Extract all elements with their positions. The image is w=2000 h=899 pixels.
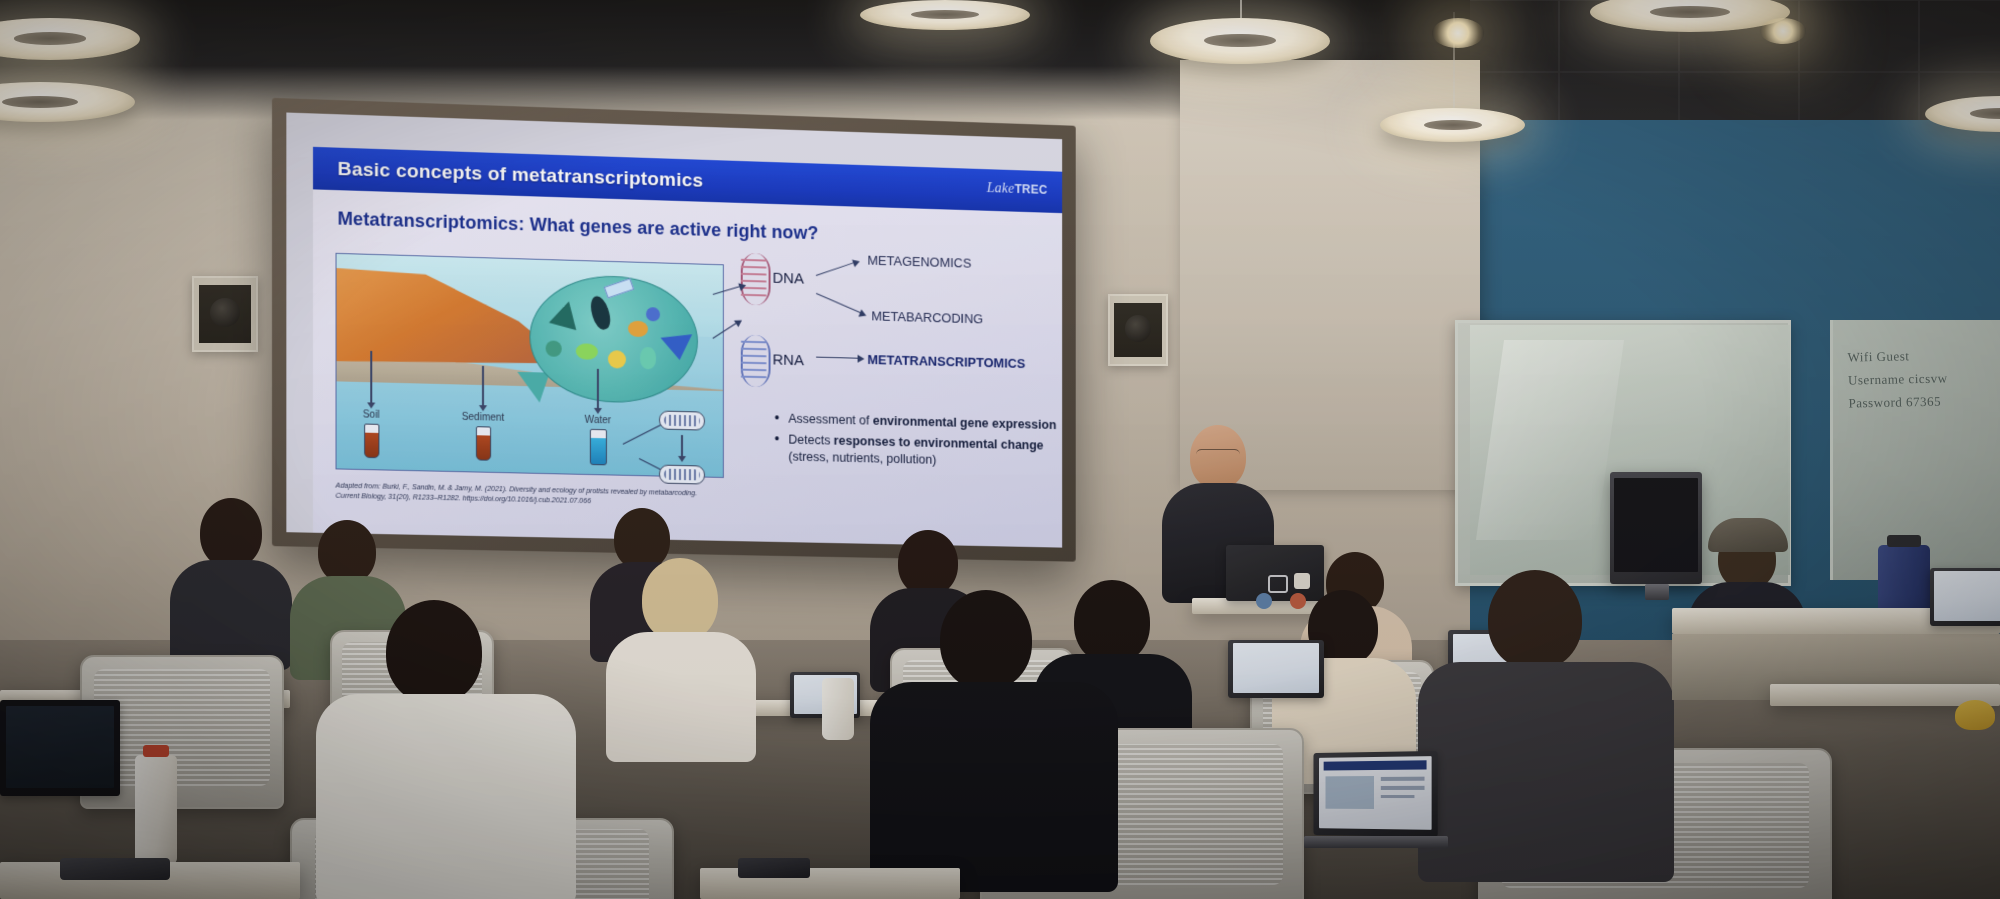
cap-icon [1708, 518, 1788, 552]
spot-light-2 [1760, 18, 1806, 44]
bullet-item-2: Detects responses to environmental chang… [775, 431, 1063, 471]
student-head [200, 498, 262, 568]
bullet-2-bold: responses to environmental change [834, 434, 1044, 453]
sample-sediment-label: Sediment [452, 411, 515, 424]
rna-label: RNA [773, 351, 804, 369]
laptop-sticker-square [1268, 575, 1288, 593]
laptop-sticker-beige [1294, 573, 1310, 589]
pendant-light-5 [1380, 108, 1525, 142]
laptop-sticker-red [1290, 593, 1306, 609]
spot-light-1 [1432, 18, 1484, 48]
student-head [386, 600, 482, 704]
student-head [898, 530, 958, 596]
sequencing-chip-top [659, 411, 705, 431]
arrow-rna-metatranscriptomics [816, 357, 859, 360]
slide-citation: Adapted from: Burki, F., Sandin, M. & Ja… [336, 482, 719, 509]
arrow-chip-down [681, 435, 682, 457]
bullet-2-prefix: Detects [788, 433, 833, 448]
monitor-stand [1645, 584, 1669, 600]
laptop-sticker-round [1256, 593, 1272, 609]
rna-helix-icon [741, 335, 767, 388]
sample-sediment: Sediment [452, 411, 515, 461]
student-head [1074, 580, 1150, 664]
method-metagenomics: METAGENOMICS [867, 253, 971, 271]
method-metabarcoding: METABARCODING [871, 308, 983, 326]
ptz-camera-left [192, 276, 258, 352]
student-torso-black-shirt [870, 682, 1118, 892]
student-torso [170, 560, 292, 670]
student-hair-braid [642, 558, 718, 642]
arrow-water [597, 369, 599, 409]
dna-label: DNA [773, 270, 804, 288]
sample-water: Water [573, 414, 623, 465]
lake-trec-logo: LakeTREC [987, 181, 1048, 199]
tumbler-cup [822, 678, 854, 740]
dna-helix-icon [741, 253, 767, 306]
ptz-camera-right [1108, 294, 1168, 366]
arrow-soil [370, 351, 372, 404]
sample-soil: Soil [348, 409, 395, 459]
arrow-dna-metagenomics [816, 262, 855, 276]
whiteboard-line-username: Username cicsvw [1848, 365, 1998, 391]
student-torso [606, 632, 756, 762]
student-torso-white-shirt [316, 694, 576, 899]
bullet-item-1: Assessment of environmental gene express… [775, 410, 1063, 434]
sample-water-label: Water [573, 414, 623, 426]
logo-trec-text: TREC [1015, 182, 1048, 197]
water-bottle-icon [589, 429, 606, 465]
arrow-sediment [482, 366, 484, 406]
microbe-yellow [608, 350, 626, 369]
projection-screen: Basic concepts of metatranscriptomics La… [286, 112, 1062, 547]
microbe-blue-dot [646, 307, 660, 321]
whiteboard-notes: Wifi Guest Username cicsvw Password 6736… [1847, 342, 1998, 414]
arrow-dna-metabarcoding [816, 293, 862, 314]
student-head [1488, 570, 1582, 670]
method-metatranscriptomics: METATRANSCRIPTOMICS [867, 352, 1025, 371]
slide-subtitle: Metatranscriptomics: What genes are acti… [338, 208, 819, 244]
microbe-green [576, 343, 598, 360]
logo-script-text: Lake [987, 181, 1015, 197]
slide-bullet-list: Assessment of environmental gene express… [735, 409, 1062, 476]
phone-on-desk [60, 858, 170, 880]
sequencing-chip-bottom [659, 465, 705, 485]
microbe-triangle-2 [661, 334, 696, 361]
whiteboard-line-password: Password 67365 [1848, 388, 1998, 414]
microbe-small-green [546, 340, 562, 356]
soil-tube-icon [364, 424, 379, 459]
sediment-tube-icon [475, 426, 490, 461]
glasses-icon [1196, 449, 1240, 460]
bullet-2-suffix: (stress, nutrients, pollution) [788, 449, 936, 466]
student-torso-grey-shirt [1418, 662, 1674, 882]
projection-screen-frame: Basic concepts of metatranscriptomics La… [272, 98, 1076, 562]
desktop-monitor [1610, 472, 1702, 584]
sample-soil-label: Soil [348, 409, 395, 421]
phone-on-desk-2 [738, 858, 810, 878]
whiteboard-line-wifi: Wifi Guest [1847, 342, 1997, 368]
bullet-1-bold: environmental gene expression [873, 413, 1057, 431]
yellow-object [1955, 700, 1995, 730]
magnifier-tail [517, 372, 549, 403]
classroom-photo: Wifi Guest Username cicsvw Password 6736… [0, 0, 2000, 899]
pendant-light-7 [860, 0, 1030, 30]
pendant-light-1 [0, 18, 140, 60]
pendant-light-3 [1150, 18, 1330, 64]
microbe-teal [640, 347, 656, 369]
pendant-light-6 [1925, 96, 2000, 132]
microbe-orange [628, 321, 648, 338]
student-head [940, 590, 1032, 690]
presentation-slide: Basic concepts of metatranscriptomics La… [313, 147, 1062, 548]
student-head [318, 520, 376, 584]
bullet-1-prefix: Assessment of [788, 411, 872, 427]
student-head [614, 508, 670, 570]
water-bottle-white [135, 755, 177, 865]
pendant-light-2 [0, 82, 135, 122]
